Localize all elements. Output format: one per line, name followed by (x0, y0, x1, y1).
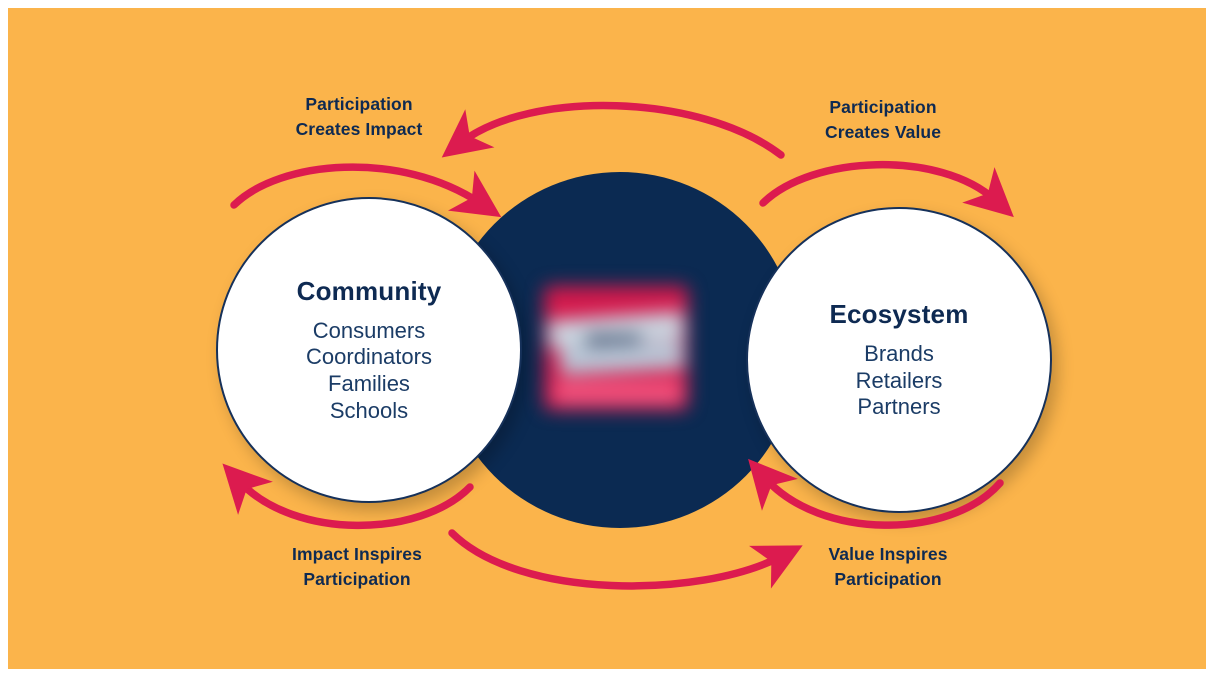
frame-band-right (1206, 0, 1214, 677)
frame-band-top (0, 0, 1214, 8)
node-ecosystem-title: Ecosystem (829, 299, 968, 330)
label-value-inspires-participation: Value Inspires Participation (788, 542, 988, 592)
node-community-items: Consumers Coordinators Families Schools (306, 318, 432, 425)
node-community-item-2: Coordinators (306, 344, 432, 371)
node-ecosystem-items: Brands Retailers Partners (856, 341, 943, 421)
label-participation-creates-impact: Participation Creates Impact (255, 92, 463, 142)
brand-logo-icon (540, 282, 692, 414)
frame-band-bottom (0, 669, 1214, 677)
node-ecosystem-item-3: Partners (857, 394, 940, 421)
node-ecosystem[interactable]: Ecosystem Brands Retailers Partners (746, 207, 1052, 513)
node-community[interactable]: Community Consumers Coordinators Familie… (216, 197, 522, 503)
diagram-canvas: Community Consumers Coordinators Familie… (0, 0, 1214, 677)
logo-band-tagline (554, 382, 682, 404)
frame-band-left (0, 0, 8, 677)
node-community-item-4: Schools (330, 398, 408, 425)
node-community-title: Community (297, 276, 442, 307)
label-participation-creates-value: Participation Creates Value (783, 95, 983, 145)
label-impact-inspires-participation: Impact Inspires Participation (253, 542, 461, 592)
node-ecosystem-item-2: Retailers (856, 368, 943, 395)
node-community-item-3: Families (328, 371, 410, 398)
node-community-item-1: Consumers (313, 318, 425, 345)
node-ecosystem-item-1: Brands (864, 341, 934, 368)
